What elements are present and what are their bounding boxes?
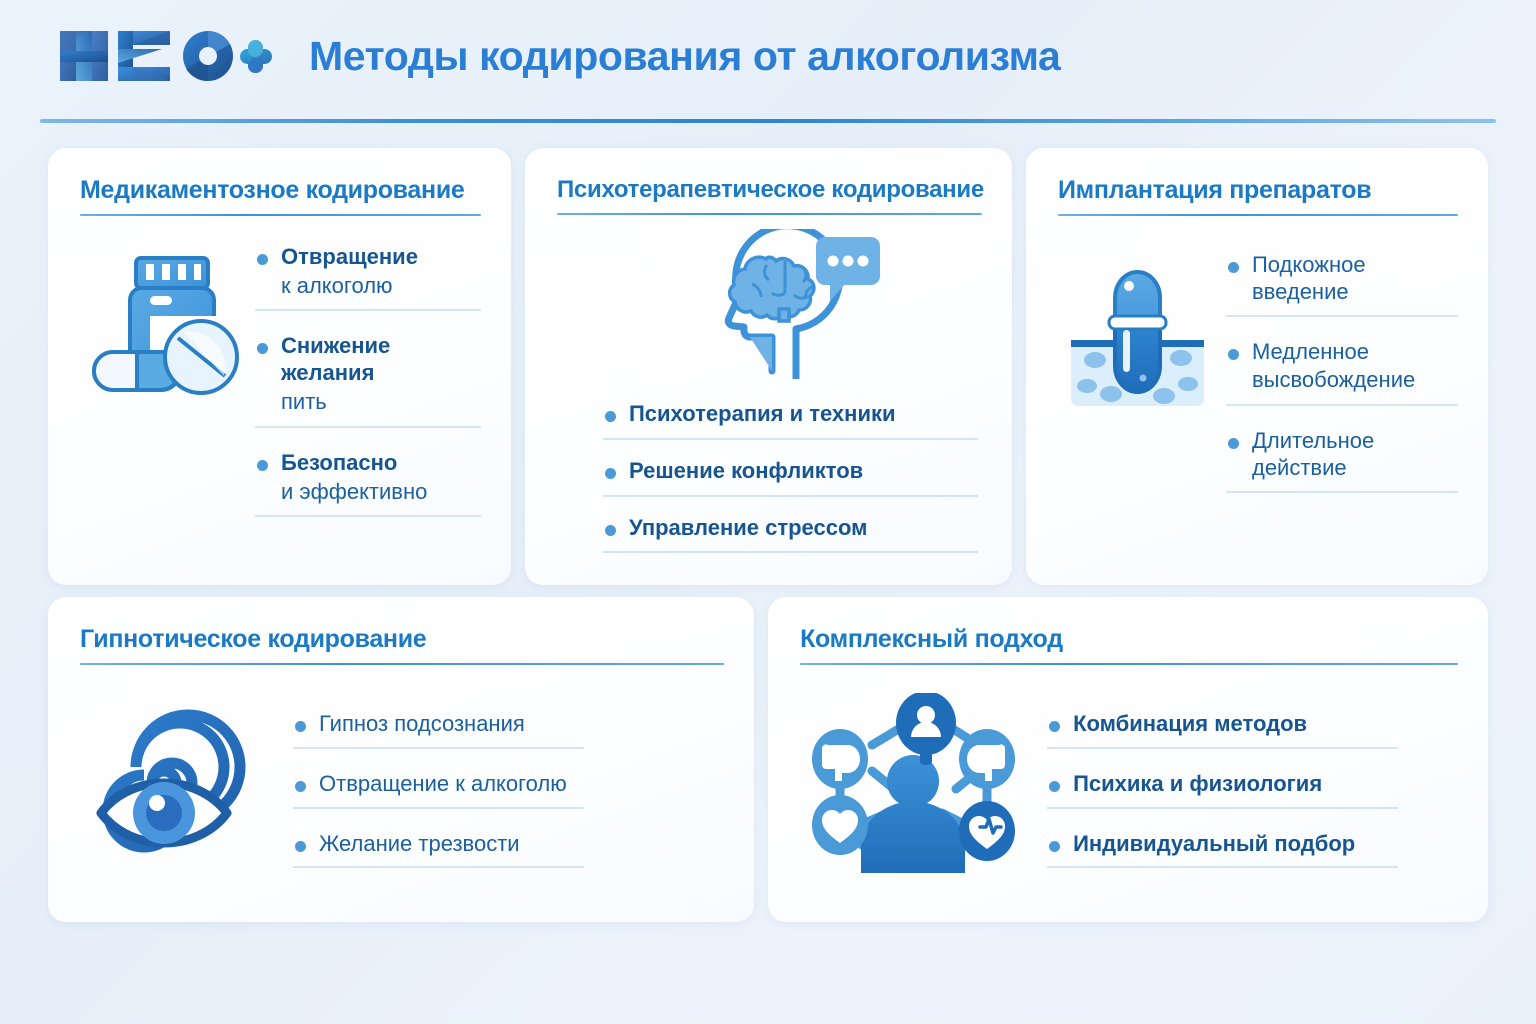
bullet-list-psychotherapy: Психотерапия и техники Решение конфликто… [557,401,982,571]
bullet-list-hypnosis: Гипноз подсознания Отвращение к алкоголю… [275,687,724,890]
list-item[interactable]: Гипноз подсознания [293,711,584,749]
card-hypnosis[interactable]: Гипнотическое кодирование [48,597,754,922]
list-item[interactable]: Индивидуальный подбор [1047,831,1398,869]
bullet-primary-text: Длительное действие [1252,428,1458,482]
bullet-list-complex-approach: Комбинация методов Психика и физиология … [1025,687,1458,890]
list-item[interactable]: Решение конфликтов [603,458,978,497]
page-title: Методы кодирования от алкоголизма [309,33,1060,80]
icon-container [619,229,919,379]
card-implantation[interactable]: Имплантация препаратов [1026,148,1488,585]
list-item[interactable]: Отвращение к алкоголю [293,771,584,809]
card-medication[interactable]: Медикаментозное кодирование [48,148,511,585]
icon-container [80,238,255,400]
page-header: Методы кодирования от алкоголизма [40,0,1496,112]
infographic-page: Методы кодирования от алкоголизма Медика… [0,0,1536,1024]
neo-plus-logo-icon [58,25,273,87]
cards-row-top: Медикаментозное кодирование [40,148,1496,585]
bullet-primary-text: Комбинация методов [1073,711,1398,738]
bullet-primary-text: Подкожное введение [1252,252,1458,306]
icon-container [800,687,1025,883]
bullet-primary-text: Желание трезвости [319,831,584,858]
card-complex-approach[interactable]: Комплексный подход [768,597,1488,922]
list-item[interactable]: Управление стрессом [603,515,978,554]
card-body-complex-approach: Комбинация методов Психика и физиология … [800,687,1458,890]
bullet-primary-text: Отвращение к алкоголю [319,771,584,798]
bullet-secondary-text: и эффективно [281,478,481,507]
bullet-primary-text: Решение конфликтов [629,458,978,485]
pill-bottle-icon [88,250,248,400]
list-item[interactable]: Психика и физиология [1047,771,1398,809]
bullet-primary-text: Отвращение [281,244,481,271]
bullet-primary-text: Гипноз подсознания [319,711,584,738]
bullet-list-medication: Отвращение к алкоголю Снижение желания п… [255,238,481,539]
list-item[interactable]: Снижение желания пить [255,333,481,427]
card-title-psychotherapy: Психотерапевтическое кодирование [557,176,982,204]
card-title-underline [800,663,1458,665]
bullet-secondary-text: высвобождение [1252,366,1458,395]
card-body-psychotherapy: Психотерапия и техники Решение конфликто… [557,229,982,571]
list-item[interactable]: Психотерапия и техники [603,401,978,440]
person-network-icon [810,693,1015,883]
bullet-secondary-text: пить [281,388,481,417]
card-body-implantation: Подкожное введение Медленное высвобожден… [1058,238,1458,515]
card-title-hypnosis: Гипнотическое кодирование [80,625,724,654]
card-body-hypnosis: Гипноз подсознания Отвращение к алкоголю… [80,687,724,890]
card-title-complex-approach: Комплексный подход [800,625,1458,654]
bullet-primary-text: Медленное [1252,339,1458,366]
card-title-medication: Медикаментозное кодирование [80,176,481,205]
card-title-implantation: Имплантация препаратов [1058,176,1458,205]
bullet-primary-text: Психика и физиология [1073,771,1398,798]
bullet-primary-text: Управление стрессом [629,515,978,542]
card-title-underline [557,213,982,215]
card-title-underline [80,214,481,216]
card-title-underline [80,663,724,665]
icon-container [1058,238,1218,414]
list-item[interactable]: Длительное действие [1226,428,1458,493]
list-item[interactable]: Безопасно и эффективно [255,450,481,517]
cards-row-bottom: Гипнотическое кодирование [40,597,1496,922]
icon-container [80,687,275,861]
list-item[interactable]: Комбинация методов [1047,711,1398,749]
header-divider [40,119,1496,123]
bullet-list-implantation: Подкожное введение Медленное высвобожден… [1218,238,1458,515]
card-psychotherapy[interactable]: Психотерапевтическое кодирование [525,148,1012,585]
head-brain-speech-icon [654,229,884,379]
bullet-primary-text: Психотерапия и техники [629,401,978,428]
bullet-secondary-text: к алкоголю [281,272,481,301]
card-title-underline [1058,214,1458,216]
list-item[interactable]: Отвращение к алкоголю [255,244,481,311]
list-item[interactable]: Желание трезвости [293,831,584,869]
bullet-primary-text: Индивидуальный подбор [1073,831,1398,858]
card-body-medication: Отвращение к алкоголю Снижение желания п… [80,238,481,539]
bullet-primary-text: Снижение желания [281,333,481,387]
bullet-primary-text: Безопасно [281,450,481,477]
hypnotic-eye-spiral-icon [93,701,263,861]
list-item[interactable]: Подкожное введение [1226,252,1458,317]
capsule-implant-icon [1065,254,1210,414]
list-item[interactable]: Медленное высвобождение [1226,339,1458,406]
